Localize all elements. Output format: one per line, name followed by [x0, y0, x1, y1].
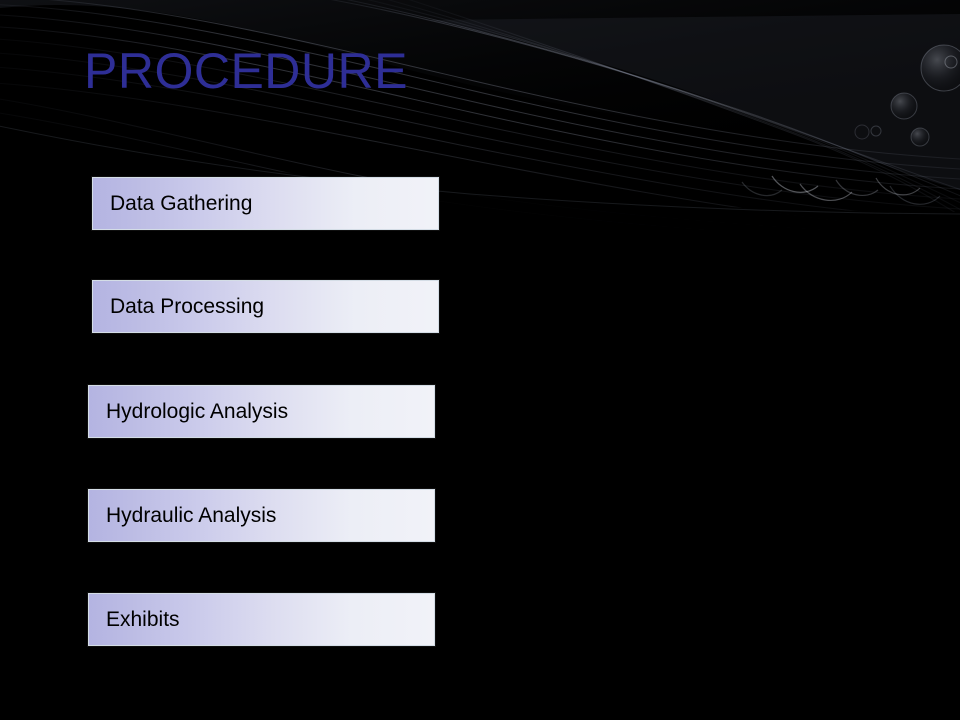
process-step-box[interactable]: Hydrologic Analysis — [88, 385, 435, 438]
process-step-box[interactable]: Data Gathering — [92, 177, 439, 230]
process-step-list: Data Gathering Data Processing Hydrologi… — [0, 0, 960, 720]
process-step-label: Data Gathering — [93, 192, 252, 216]
process-step-label: Hydrologic Analysis — [89, 400, 288, 424]
process-step-label: Data Processing — [93, 295, 264, 319]
process-step-box[interactable]: Hydraulic Analysis — [88, 489, 435, 542]
page-title: PROCEDURE — [84, 44, 408, 98]
presentation-slide: PROCEDURE Data Gathering Data Processing… — [0, 0, 960, 720]
process-step-label: Exhibits — [89, 608, 180, 632]
process-step-label: Hydraulic Analysis — [89, 504, 276, 528]
process-step-box[interactable]: Exhibits — [88, 593, 435, 646]
process-step-box[interactable]: Data Processing — [92, 280, 439, 333]
